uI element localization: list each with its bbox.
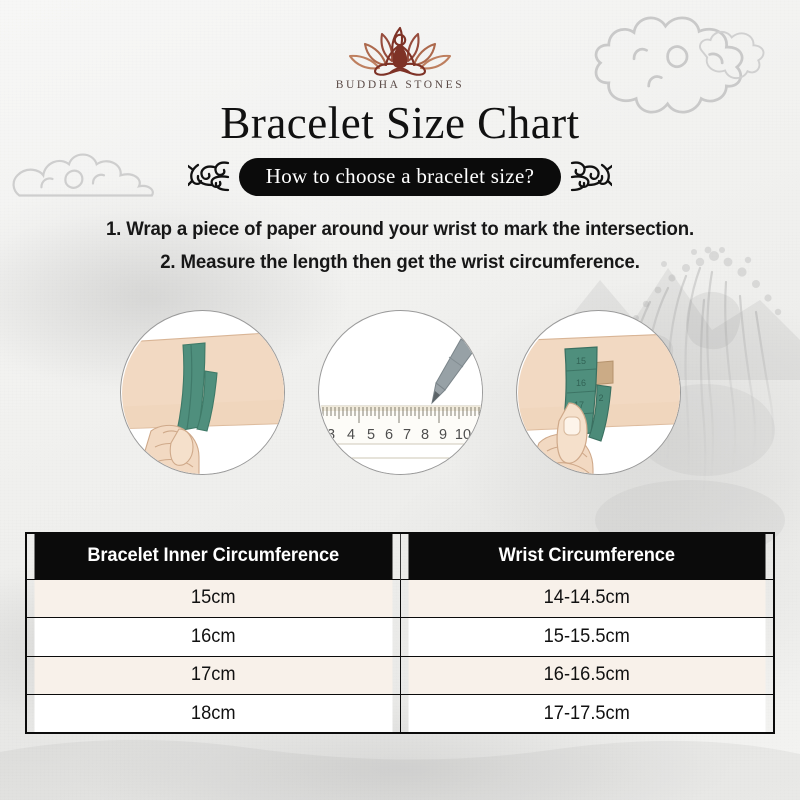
brand-logo: BUDDHA STONES (0, 18, 800, 91)
svg-text:3: 3 (326, 427, 334, 443)
illustration-wrap-paper (120, 310, 285, 475)
cell-wrist: 17-17.5cm (407, 695, 766, 734)
svg-text:9: 9 (438, 427, 446, 443)
cell-bracelet-inner: 16cm (33, 618, 392, 657)
svg-text:11: 11 (477, 427, 483, 443)
cell-bracelet-inner: 17cm (33, 656, 392, 695)
ruler-and-pencil-icon: 34 56 78 910 11 (319, 311, 483, 475)
svg-text:7: 7 (402, 427, 410, 443)
table-row: 16cm 15-15.5cm (26, 618, 774, 657)
lotus-meditation-icon (334, 18, 466, 78)
cell-wrist: 14-14.5cm (407, 579, 766, 618)
table-row: 17cm 16-16.5cm (26, 656, 774, 695)
cell-bracelet-inner: 18cm (33, 695, 392, 734)
banner-question: How to choose a bracelet size? (239, 158, 561, 196)
size-chart-table: Bracelet Inner Circumference Wrist Circu… (25, 532, 775, 734)
svg-text:2: 2 (598, 393, 603, 403)
table-row: 15cm 14-14.5cm (26, 579, 774, 618)
svg-text:6: 6 (384, 427, 392, 443)
scroll-flourish-ornament-left (188, 159, 230, 195)
table-header-row: Bracelet Inner Circumference Wrist Circu… (26, 533, 774, 579)
illustration-tape-measure: 15 16 17 2 (516, 310, 681, 475)
brand-name: BUDDHA STONES (0, 79, 800, 91)
cell-wrist: 16-16.5cm (407, 656, 766, 695)
svg-text:5: 5 (366, 427, 374, 443)
cell-wrist: 15-15.5cm (407, 618, 766, 657)
svg-text:15: 15 (575, 356, 585, 366)
column-header-bracelet-inner-circumference: Bracelet Inner Circumference (33, 533, 392, 579)
instruction-step-2: 2. Measure the length then get the wrist… (18, 246, 782, 279)
scroll-flourish-ornament-right (570, 159, 612, 195)
illustration-row: 34 56 78 910 11 (0, 310, 800, 475)
instruction-step-1: 1. Wrap a piece of paper around your wri… (18, 213, 782, 246)
column-header-wrist-circumference: Wrist Circumference (407, 533, 766, 579)
cell-bracelet-inner: 15cm (33, 579, 392, 618)
svg-text:4: 4 (346, 427, 354, 443)
banner-row: How to choose a bracelet size? (0, 158, 800, 196)
tape-measure-on-wrist-icon: 15 16 17 2 (517, 311, 681, 475)
instructions-list: 1. Wrap a piece of paper around your wri… (0, 213, 800, 279)
arm-with-paper-strip-icon (121, 311, 285, 475)
svg-text:16: 16 (575, 378, 585, 388)
illustration-measure-ruler: 34 56 78 910 11 (318, 310, 483, 475)
svg-text:8: 8 (420, 427, 428, 443)
table-row: 18cm 17-17.5cm (26, 695, 774, 734)
page-title: Bracelet Size Chart (0, 97, 800, 149)
svg-text:10: 10 (454, 427, 470, 443)
